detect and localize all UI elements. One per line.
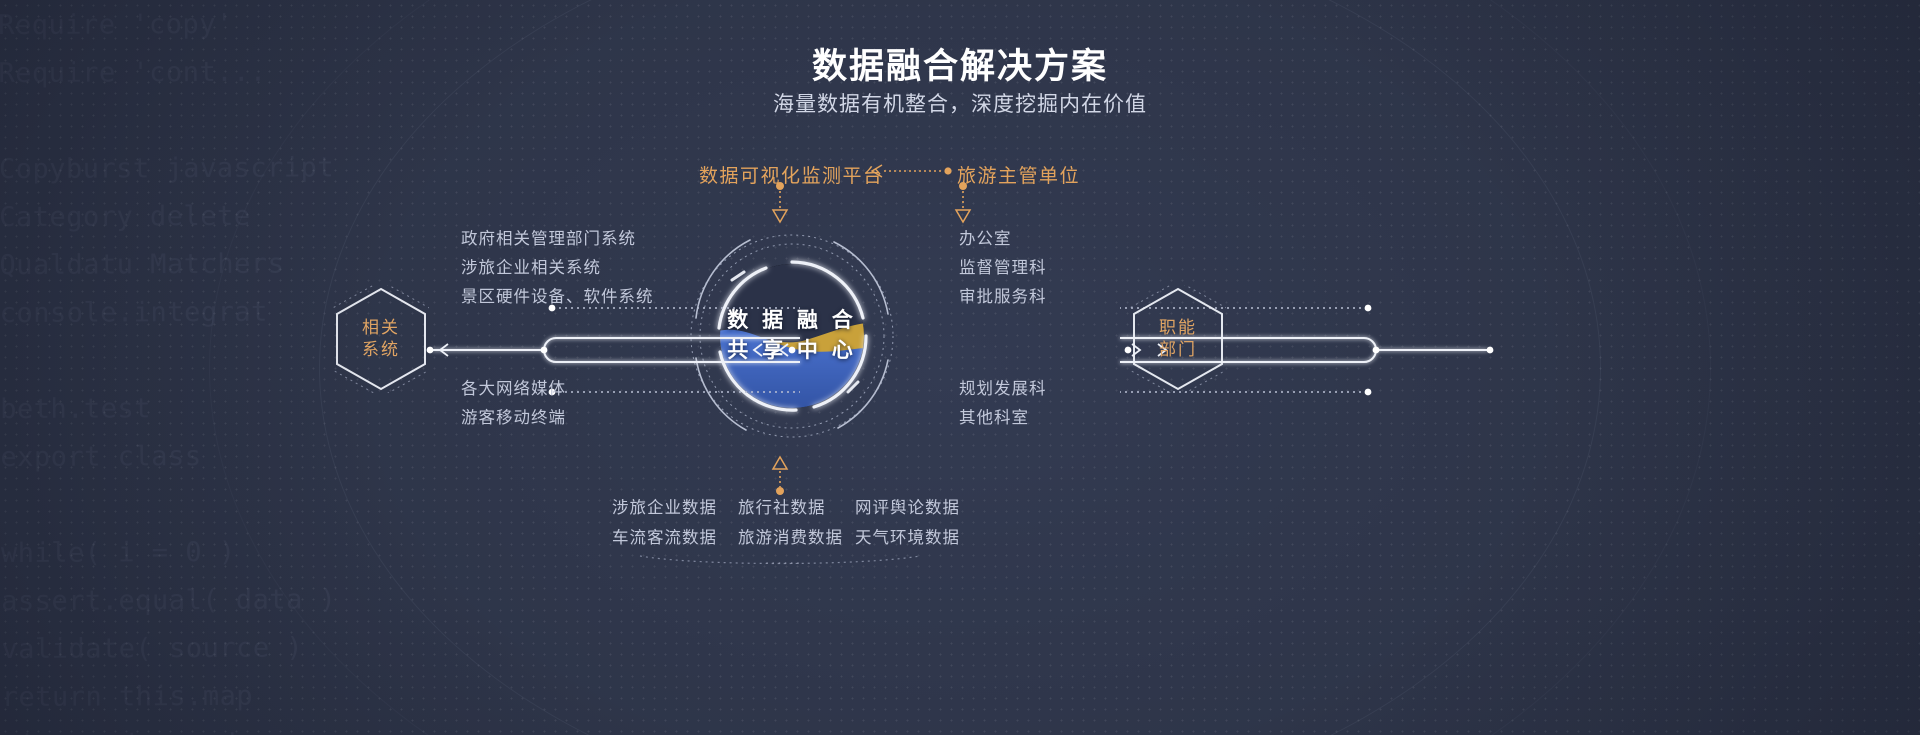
left-item-tourist-mobile-terminal[interactable]: 游客移动终端 xyxy=(461,404,566,428)
left-item-tourism-enterprise-systems[interactable]: 涉旅企业相关系统 xyxy=(461,254,601,278)
badge-left-line1: 相关 xyxy=(362,317,400,339)
bottom-ellipsis: ...... xyxy=(765,551,802,568)
badge-left-line2: 系统 xyxy=(362,339,400,361)
badge-functional-departments[interactable]: 职能 部门 xyxy=(1130,285,1226,393)
right-item-planning-dept[interactable]: 规划发展科 xyxy=(959,375,1047,399)
right-item-office[interactable]: 办公室 xyxy=(959,225,1012,249)
bottom-item-weather-environment-data[interactable]: 天气环境数据 xyxy=(855,524,960,548)
bottom-item-tourism-consumption-data[interactable]: 旅游消费数据 xyxy=(738,524,843,548)
badge-related-systems-label: 相关 系统 xyxy=(333,285,429,393)
connector-lines-svg xyxy=(0,0,1920,735)
left-dotted-feeders xyxy=(553,308,800,392)
badge-right-line2: 部门 xyxy=(1159,339,1197,361)
platform-vertical-connector xyxy=(773,182,787,222)
left-bus-endpoint xyxy=(789,347,796,354)
badge-right-line1: 职能 xyxy=(1159,317,1197,339)
left-item-network-media[interactable]: 各大网络媒体 xyxy=(461,375,566,399)
bottom-item-enterprise-data[interactable]: 涉旅企业数据 xyxy=(612,494,717,518)
right-item-other-depts[interactable]: 其他科室 xyxy=(959,404,1029,428)
label-tourism-authority[interactable]: 旅游主管单位 xyxy=(957,161,1080,188)
bottom-item-traffic-flow-data[interactable]: 车流客流数据 xyxy=(612,524,717,548)
bottom-item-travel-agency-data[interactable]: 旅行社数据 xyxy=(738,494,826,518)
left-item-government-systems[interactable]: 政府相关管理部门系统 xyxy=(461,225,636,249)
right-item-approval-service-dept[interactable]: 审批服务科 xyxy=(959,283,1047,307)
badge-functional-departments-label: 职能 部门 xyxy=(1130,285,1226,393)
right-item-supervision-dept[interactable]: 监督管理科 xyxy=(959,254,1047,278)
label-visualization-platform[interactable]: 数据可视化监测平台 xyxy=(699,161,884,188)
authority-vertical-connector xyxy=(956,182,970,222)
badge-related-systems[interactable]: 相关 系统 xyxy=(333,285,429,393)
left-item-scenic-hardware-software[interactable]: 景区硬件设备、软件系统 xyxy=(461,283,654,307)
infographic-canvas: Require 'copy' Require 'cont... Copyburs… xyxy=(0,0,1920,735)
bottom-vertical-connector xyxy=(773,457,787,495)
left-bus-lines xyxy=(432,338,800,362)
bottom-item-online-review-data[interactable]: 网评舆论数据 xyxy=(855,494,960,518)
